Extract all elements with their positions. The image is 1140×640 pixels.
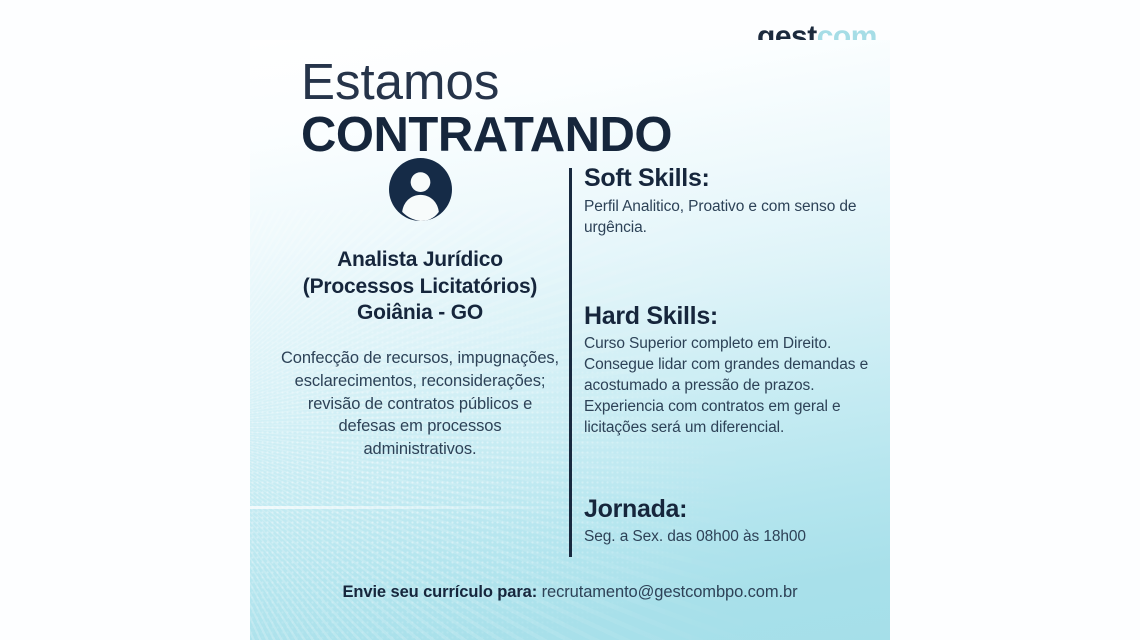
job-title-line-1: Analista Jurídico — [280, 247, 560, 274]
requirements-column: Soft Skills: Perfil Analitico, Proativo … — [584, 164, 874, 547]
poster-heading: Estamos CONTRATANDO — [301, 56, 672, 160]
vertical-divider — [569, 168, 572, 557]
apply-label: Envie seu currículo para: — [342, 583, 537, 601]
apply-footer: Envie seu currículo para: recrutamento@g… — [250, 583, 890, 602]
hard-skills-body: Curso Superior completo em Direito. Cons… — [584, 333, 874, 438]
heading-line-contratando: CONTRATANDO — [301, 111, 672, 160]
heading-line-estamos: Estamos — [301, 56, 672, 107]
apply-email[interactable]: recrutamento@gestcombpo.com.br — [542, 583, 798, 601]
job-title-line-3: Goiânia - GO — [280, 300, 560, 327]
schedule-body: Seg. a Sex. das 08h00 às 18h00 — [584, 526, 874, 547]
job-title: Analista Jurídico (Processos Licitatório… — [280, 247, 560, 327]
job-poster-card: Estamos CONTRATANDO Analista Jurídico (P… — [250, 40, 890, 640]
job-description: Confecção de recursos, impugnações, escl… — [280, 347, 560, 461]
soft-skills-body: Perfil Analitico, Proativo e com senso d… — [584, 196, 874, 238]
person-avatar-icon — [389, 158, 452, 221]
job-summary-column: Analista Jurídico (Processos Licitatório… — [280, 158, 560, 461]
soft-skills-block: Soft Skills: Perfil Analitico, Proativo … — [584, 164, 874, 238]
schedule-title: Jornada: — [584, 495, 874, 525]
soft-skills-title: Soft Skills: — [584, 164, 874, 194]
job-title-line-2: (Processos Licitatórios) — [280, 274, 560, 301]
hard-skills-title: Hard Skills: — [584, 302, 874, 332]
screenshot-canvas: gestcom Estamos CONTRATANDO A — [0, 0, 1140, 640]
schedule-block: Jornada: Seg. a Sex. das 08h00 às 18h00 — [584, 495, 874, 548]
hard-skills-block: Hard Skills: Curso Superior completo em … — [584, 302, 874, 439]
